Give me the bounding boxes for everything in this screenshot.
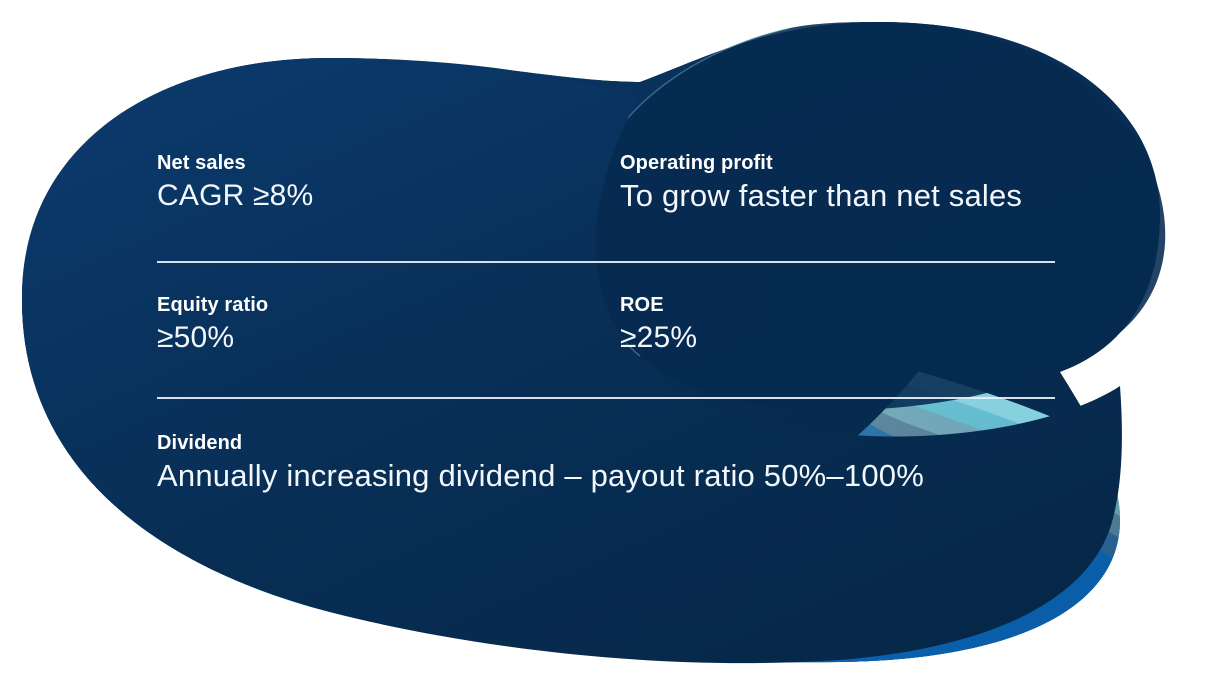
metric-roe-value: ≥25%	[620, 318, 697, 358]
metric-equity-ratio-value: ≥50%	[157, 318, 268, 358]
metric-roe: ROE ≥25%	[620, 292, 697, 358]
financial-targets-graphic: Net sales CAGR ≥8% Operating profit To g…	[0, 0, 1215, 683]
metric-dividend: Dividend Annually increasing dividend – …	[157, 430, 924, 496]
metrics-content: Net sales CAGR ≥8% Operating profit To g…	[0, 0, 1215, 683]
metric-dividend-value: Annually increasing dividend – payout ra…	[157, 456, 924, 496]
metric-operating-profit-value: To grow faster than net sales	[620, 176, 1022, 216]
metric-dividend-label: Dividend	[157, 430, 924, 456]
metric-equity-ratio-label: Equity ratio	[157, 292, 268, 318]
divider-row-2	[157, 397, 1055, 399]
divider-row-1	[157, 261, 1055, 263]
metric-equity-ratio: Equity ratio ≥50%	[157, 292, 268, 358]
metric-operating-profit-label: Operating profit	[620, 150, 1022, 176]
metric-roe-label: ROE	[620, 292, 697, 318]
metric-net-sales-label: Net sales	[157, 150, 313, 176]
metric-net-sales: Net sales CAGR ≥8%	[157, 150, 313, 216]
metric-net-sales-value: CAGR ≥8%	[157, 176, 313, 216]
metric-operating-profit: Operating profit To grow faster than net…	[620, 150, 1022, 216]
